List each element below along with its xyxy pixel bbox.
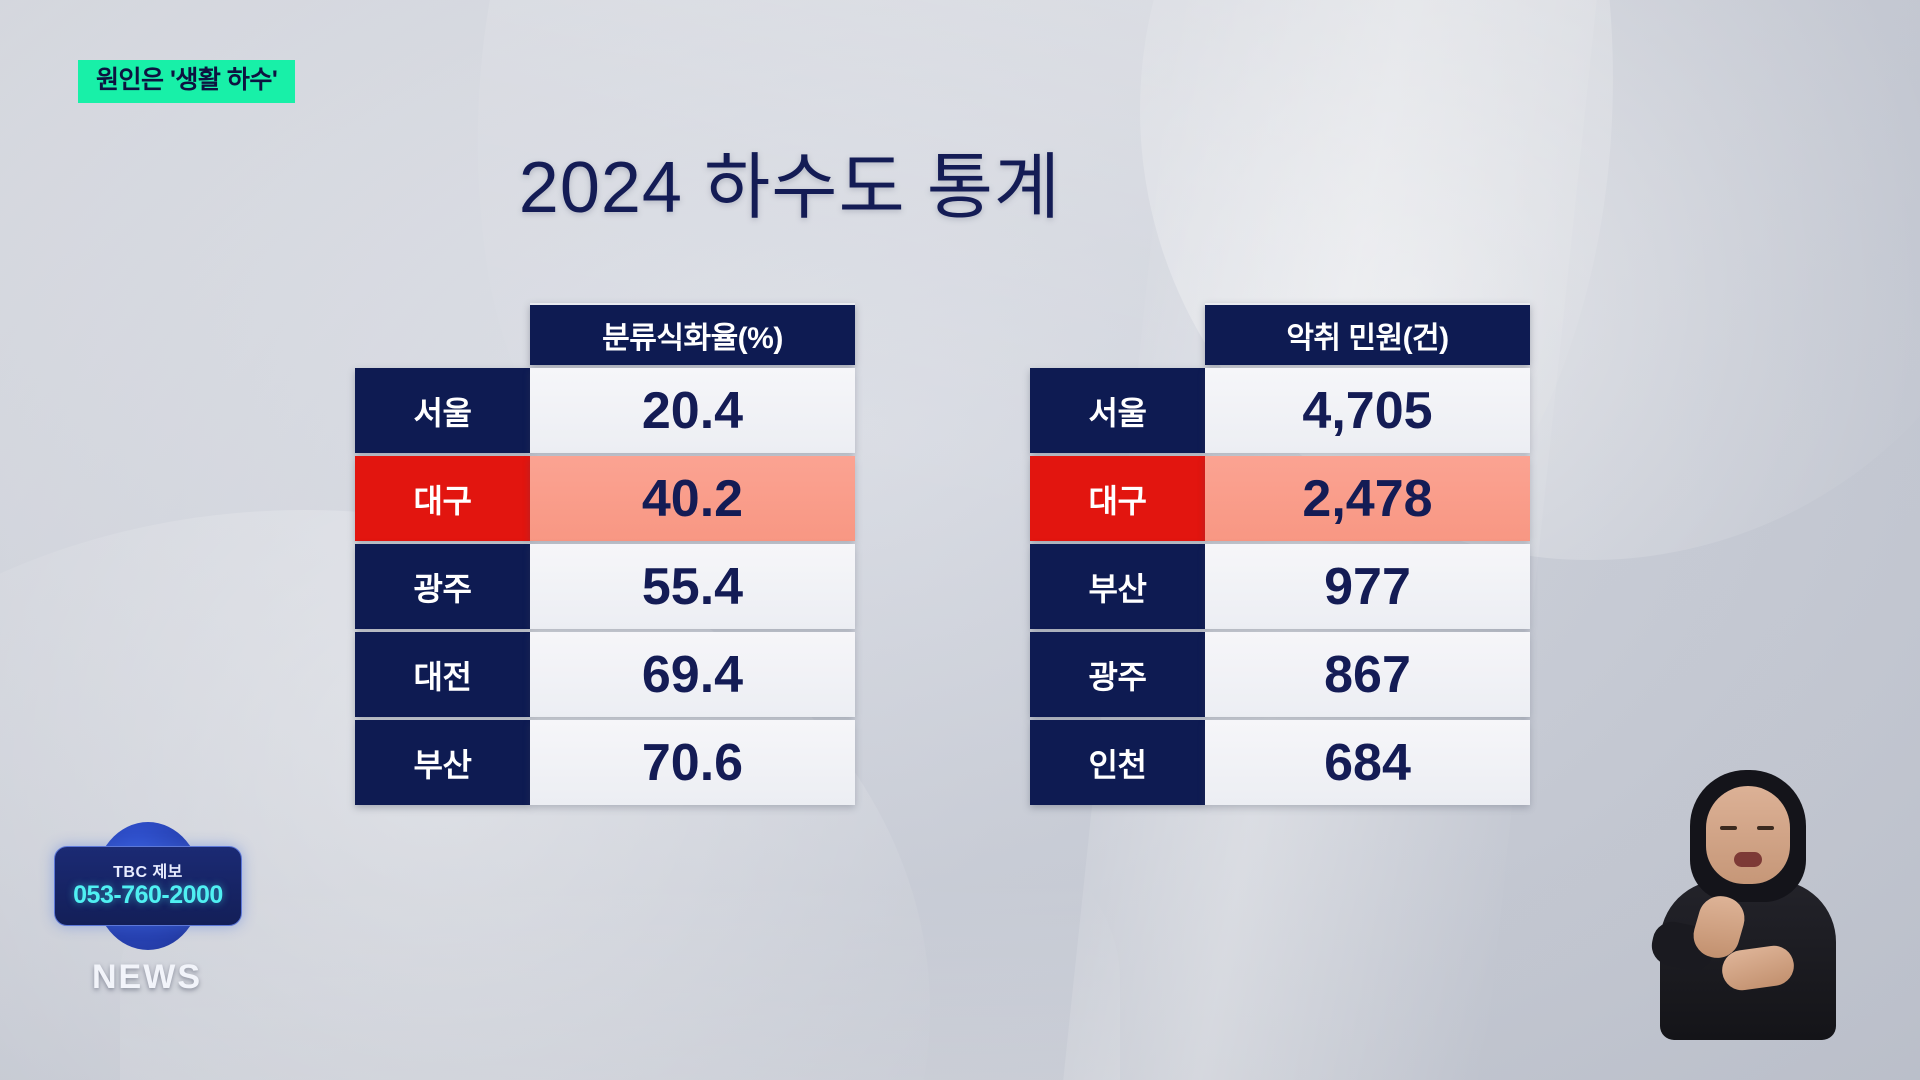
broadcast-graphic-screen: 원인은 '생활 하수' 2024 하수도 통계 분류식화율(%) 서울 20.4… [0, 0, 1920, 1080]
table-row-highlighted: 대구 2,478 [1030, 456, 1530, 541]
interpreter-face [1706, 786, 1790, 884]
row-value: 2,478 [1205, 456, 1530, 541]
table-row: 광주 55.4 [355, 544, 855, 629]
row-value: 70.6 [530, 720, 855, 805]
table-row: 인천 684 [1030, 720, 1530, 805]
stat-table-classification-rate: 분류식화율(%) 서울 20.4 대구 40.2 광주 55.4 대전 69.4… [355, 303, 855, 805]
table-header-row: 분류식화율(%) [355, 303, 855, 365]
news-label: NEWS [52, 958, 242, 997]
row-region-label: 광주 [355, 544, 530, 629]
header-spacer [1030, 303, 1205, 365]
row-region-label: 대구 [1030, 456, 1205, 541]
row-value: 684 [1205, 720, 1530, 805]
row-region-label: 대구 [355, 456, 530, 541]
interpreter-eye-left [1720, 826, 1737, 830]
table-row: 부산 977 [1030, 544, 1530, 629]
table-header-label: 악취 민원(건) [1205, 303, 1530, 365]
table-row: 대전 69.4 [355, 632, 855, 717]
table-header-row: 악취 민원(건) [1030, 303, 1530, 365]
row-region-label: 부산 [355, 720, 530, 805]
table-row: 부산 70.6 [355, 720, 855, 805]
interpreter-mouth [1734, 852, 1762, 867]
tip-line-plate: TBC 제보 053-760-2000 [54, 846, 242, 926]
table-header-label: 분류식화율(%) [530, 303, 855, 365]
headline-banner: 원인은 '생활 하수' [78, 60, 295, 103]
row-region-label: 서울 [1030, 368, 1205, 453]
sign-language-interpreter [1618, 752, 1878, 1042]
row-value: 977 [1205, 544, 1530, 629]
tbc-brand-label: TBC 제보 [113, 865, 183, 881]
row-value: 867 [1205, 632, 1530, 717]
interpreter-eye-right [1757, 826, 1774, 830]
page-title: 2024 하수도 통계 [0, 128, 1580, 233]
row-value: 4,705 [1205, 368, 1530, 453]
table-row: 서울 20.4 [355, 368, 855, 453]
header-spacer [355, 303, 530, 365]
row-region-label: 인천 [1030, 720, 1205, 805]
row-region-label: 서울 [355, 368, 530, 453]
row-value: 20.4 [530, 368, 855, 453]
table-row-highlighted: 대구 40.2 [355, 456, 855, 541]
table-row: 서울 4,705 [1030, 368, 1530, 453]
table-row: 광주 867 [1030, 632, 1530, 717]
row-value: 40.2 [530, 456, 855, 541]
row-value: 55.4 [530, 544, 855, 629]
row-region-label: 부산 [1030, 544, 1205, 629]
row-region-label: 대전 [355, 632, 530, 717]
tip-phone-number: 053-760-2000 [73, 883, 223, 908]
stat-table-odor-complaints: 악취 민원(건) 서울 4,705 대구 2,478 부산 977 광주 867… [1030, 303, 1530, 805]
row-region-label: 광주 [1030, 632, 1205, 717]
row-value: 69.4 [530, 632, 855, 717]
tbc-station-logo: TBC 제보 053-760-2000 NEWS [52, 810, 242, 1010]
